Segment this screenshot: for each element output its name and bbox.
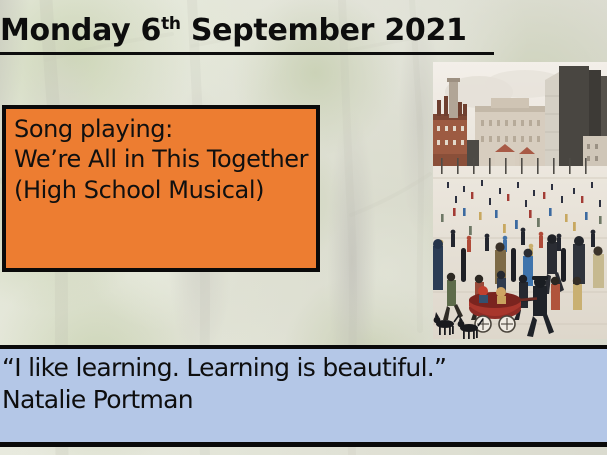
- title-underline: [0, 52, 494, 55]
- slide-canvas: Monday 6th September 2021 Song playing: …: [0, 0, 607, 455]
- lowry-town-square-painting: [433, 62, 607, 339]
- title-rest: September 2021: [181, 13, 467, 48]
- song-playing-box: Song playing: We’re All in This Together…: [2, 105, 320, 272]
- slide-title: Monday 6th September 2021: [0, 16, 607, 46]
- quote-of-the-day-box: “I like learning. Learning is beautiful.…: [0, 345, 607, 447]
- title-ordinal-suffix: th: [161, 14, 181, 34]
- song-playing-text: Song playing: We’re All in This Together…: [14, 114, 310, 205]
- quote-text: “I like learning. Learning is beautiful.…: [2, 352, 603, 416]
- title-prefix: Monday 6: [0, 13, 161, 48]
